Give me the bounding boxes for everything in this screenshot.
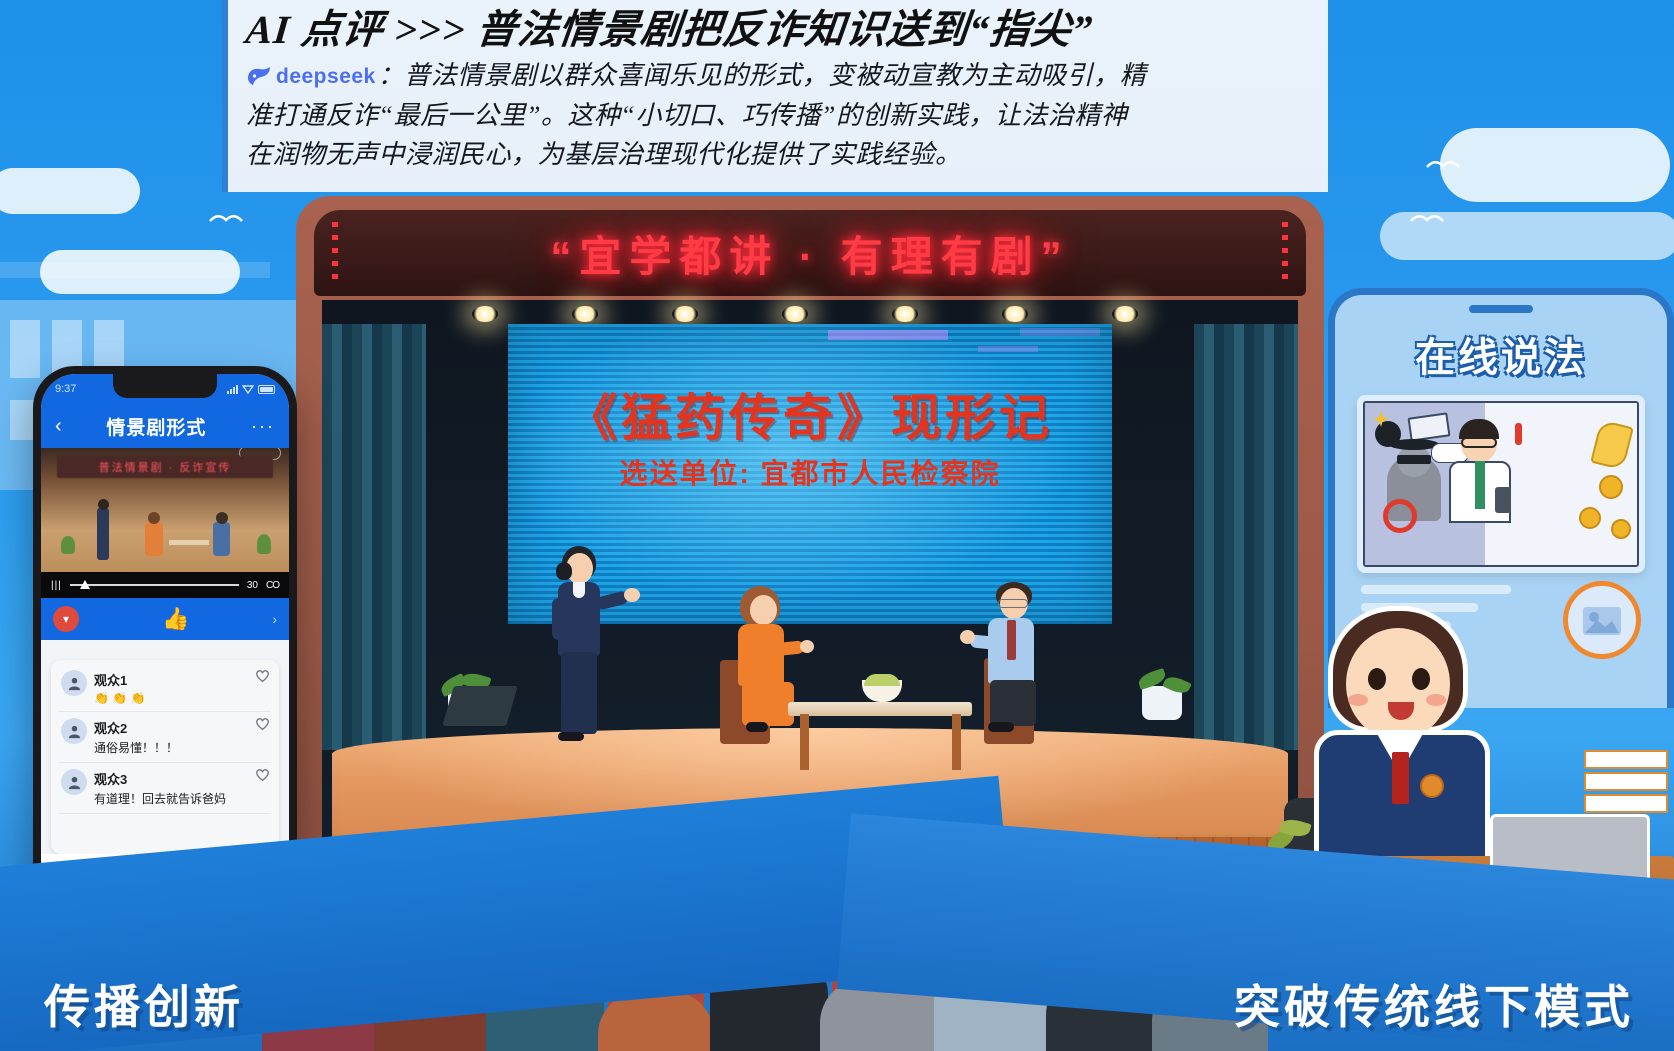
clerk-blush-left: [1348, 694, 1368, 706]
heart-icon[interactable]: [256, 718, 269, 756]
online-law-title: 在线说法: [1335, 325, 1667, 383]
comment-body: 观众1 👏 👏 👏: [94, 670, 249, 705]
victim-tie: [1475, 461, 1485, 509]
actor-man-blue: [972, 582, 1048, 736]
poster-canvas: AI 点评 >>> 普法情景剧把反诈知识送到“指尖” deepseek ：普法情…: [0, 0, 1674, 1051]
stage-table: [788, 702, 972, 716]
comment-text: 有道理！回去就告诉爸妈: [94, 790, 249, 807]
actor-hair-bun: [556, 562, 572, 580]
actor-hand: [960, 630, 975, 644]
table-leg-left: [800, 714, 809, 770]
ai-body-text-1: 普法情景剧以群众喜闻乐见的形式，变被动宣教为主动吸引，精: [404, 61, 1146, 90]
comment-author: 观众3: [94, 772, 127, 787]
stage-spotlight: [782, 306, 808, 322]
stage-spotlight: [1112, 306, 1138, 322]
list-item[interactable]: 观众1 👏 👏 👏: [59, 664, 271, 712]
actor-arm-left: [552, 598, 565, 640]
phone-page-title: 情景剧形式: [106, 413, 206, 440]
actor-legs: [990, 680, 1036, 726]
comment-author: 观众2: [94, 721, 127, 736]
fullscreen-icon[interactable]: CO: [266, 580, 279, 591]
comment-text: 通俗易懂！！！: [94, 739, 249, 756]
mini-table: [169, 540, 209, 545]
screen-subtitle: 选送单位: 宜都市人民检察院: [508, 452, 1112, 492]
clerk-figure: [1310, 606, 1500, 870]
ai-body-line-3: 在润物无声中浸润民心，为基层治理现代化提供了实践经验。: [246, 135, 1312, 175]
video-stage-banner: 普法情景剧 · 反诈宣传: [57, 456, 273, 478]
actor-head: [750, 595, 777, 625]
heart-icon[interactable]: [256, 670, 269, 705]
clerk-blush-right: [1426, 694, 1446, 706]
list-item[interactable]: 观众2 通俗易懂！！！: [59, 712, 271, 763]
building-silhouette: [0, 262, 270, 278]
bottom-banner-left-label: 传播创新: [44, 971, 244, 1037]
screen-glitch: [978, 346, 1038, 352]
person-icon: [67, 676, 82, 691]
phone-screen: 9:37 ‹ 情景剧形式 ··· 普法情景剧 · 反诈宣传: [41, 374, 289, 898]
stage-spotlight: [892, 306, 918, 322]
chevron-right-icon[interactable]: ›: [272, 611, 277, 627]
avatar: [61, 718, 87, 744]
avatar: [61, 670, 87, 696]
stage-curtain-left: [322, 324, 426, 750]
screen-title: 《猛药传奇》现形记: [508, 378, 1112, 450]
coin-icon: [1599, 475, 1623, 499]
video-progress-slider[interactable]: [70, 584, 239, 586]
stage-spotlight: [572, 306, 598, 322]
bird-icon: [1426, 158, 1460, 172]
clerk-head: [1346, 628, 1450, 740]
person-icon: [67, 724, 82, 739]
actor-legs: [742, 682, 794, 726]
ai-body-line-1: deepseek ：普法情景剧以群众喜闻乐见的形式，变被动宣教为主动吸引，精: [246, 56, 1312, 96]
ai-panel-title: AI 点评 >>> 普法情景剧把反诈知识送到“指尖”: [244, 8, 1315, 52]
progress-knob[interactable]: [80, 580, 90, 589]
person-icon: [67, 775, 82, 790]
anti-fraud-illustration: [1363, 401, 1639, 567]
stage-spotlight: [672, 306, 698, 322]
smartphone-icon: [1495, 487, 1511, 513]
bird-icon: [209, 212, 243, 226]
screen-glitch: [828, 330, 948, 340]
deepseek-logo: deepseek: [246, 61, 376, 93]
battery-icon: [258, 385, 275, 394]
table-leg-right: [952, 714, 961, 770]
actor-collar: [573, 582, 585, 598]
building-window: [10, 320, 40, 378]
anti-fraud-card[interactable]: [1357, 395, 1645, 573]
whale-icon: [246, 66, 272, 88]
phone-speaker-grill: [1469, 305, 1533, 313]
phone-video-player[interactable]: 普法情景剧 · 反诈宣传 ||| 30: [41, 448, 289, 598]
status-time: 9:37: [55, 383, 76, 395]
actor-prosecutor: [544, 546, 614, 742]
chevron-down-icon[interactable]: ▾: [53, 606, 79, 632]
bowl-food: [864, 674, 900, 686]
clerk-badge-icon: [1420, 774, 1444, 798]
heart-icon[interactable]: [256, 769, 269, 807]
actor-shoe: [558, 732, 584, 741]
wifi-icon: [242, 384, 254, 394]
bottom-banner-right-label: 突破传统线下模式: [1234, 971, 1634, 1037]
avatar: [61, 769, 87, 795]
ellipsis-icon[interactable]: ···: [251, 416, 275, 437]
mini-plant: [61, 536, 75, 554]
actor-shoe: [988, 722, 1014, 732]
book: [1584, 794, 1668, 813]
comment-text: 👏 👏 👏: [94, 691, 249, 705]
ai-body-line-2: 准打通反诈“最后一公里”。这种“小切口、巧传播”的创新实践，让法治精神: [246, 96, 1312, 136]
book: [1584, 750, 1668, 769]
actor-tie: [1007, 620, 1016, 660]
prohibited-icon: [1383, 499, 1417, 533]
mini-actor-seated-blue: [213, 522, 230, 556]
clerk-tie: [1392, 752, 1409, 804]
signal-bars-icon: [227, 385, 238, 394]
comment-author: 观众1: [94, 673, 127, 688]
list-item[interactable]: 观众3 有道理！回去就告诉爸妈: [59, 763, 271, 814]
mini-actor-seated-orange: [145, 522, 163, 556]
book: [1584, 772, 1668, 791]
actor-hand: [624, 588, 640, 602]
stage-spotlight: [472, 306, 498, 322]
phone-status-bar: 9:37: [41, 374, 289, 404]
led-marquee-text: “宜学都讲 · 有理有剧”: [314, 210, 1306, 296]
video-timestamp: 30: [247, 580, 258, 591]
back-icon[interactable]: ‹: [55, 415, 62, 438]
cloud-shape: [0, 168, 140, 214]
screen-glitch: [1020, 328, 1100, 336]
actor-arm: [769, 640, 804, 656]
led-marquee-board: “宜学都讲 · 有理有剧”: [314, 210, 1306, 296]
deepseek-wordmark: deepseek: [276, 61, 376, 93]
actor-hand: [800, 640, 814, 653]
thief-mask-icon: [1397, 455, 1431, 464]
book-stack: [1584, 750, 1668, 814]
ai-comment-panel: AI 点评 >>> 普法情景剧把反诈知识送到“指尖” deepseek ：普法情…: [222, 0, 1328, 192]
cloud-shape: [1440, 128, 1670, 202]
coin-icon: [1579, 507, 1601, 529]
video-controls[interactable]: ||| 30 CO: [41, 572, 289, 598]
ai-panel-body: deepseek ：普法情景剧以群众喜闻乐见的形式，变被动宣教为主动吸引，精 准…: [246, 56, 1312, 175]
ai-colon: ：: [378, 61, 405, 90]
actor-legs: [561, 652, 597, 734]
phone-reaction-bar: ▾ 👍 ›: [41, 598, 289, 640]
theatre-stage: “宜学都讲 · 有理有剧” 《猛药传奇》现形记 选送单位: 宜都市人民检察院: [296, 196, 1324, 896]
comment-list[interactable]: 观众1 👏 👏 👏 观众2 通俗易懂！！！: [51, 660, 279, 854]
stage-monitor-wedge: [442, 686, 517, 726]
coin-icon: [1611, 519, 1631, 539]
mini-actor-standing: [97, 508, 109, 560]
thumbs-up-icon[interactable]: 👍: [162, 606, 189, 632]
status-indicators: [227, 384, 275, 394]
comment-body: 观众2 通俗易懂！！！: [94, 718, 249, 756]
clerk-eye-right: [1412, 668, 1430, 690]
victim-glasses-icon: [1461, 437, 1497, 448]
mobile-phone-mockup: 9:37 ‹ 情景剧形式 ··· 普法情景剧 · 反诈宣传: [33, 366, 297, 906]
stage-spotlight: [1002, 306, 1028, 322]
clerk-eye-left: [1368, 668, 1386, 690]
actor-shoe: [746, 722, 768, 732]
exclamation-icon: [1515, 423, 1522, 445]
bird-icon: [1410, 212, 1444, 226]
mini-plant: [257, 534, 271, 554]
pause-icon[interactable]: |||: [51, 580, 62, 591]
comment-body: 观众3 有道理！回去就告诉爸妈: [94, 769, 249, 807]
phone-notch: [113, 374, 217, 398]
phone-nav-bar: ‹ 情景剧形式 ···: [41, 404, 289, 448]
actor-glasses: [998, 599, 1028, 608]
